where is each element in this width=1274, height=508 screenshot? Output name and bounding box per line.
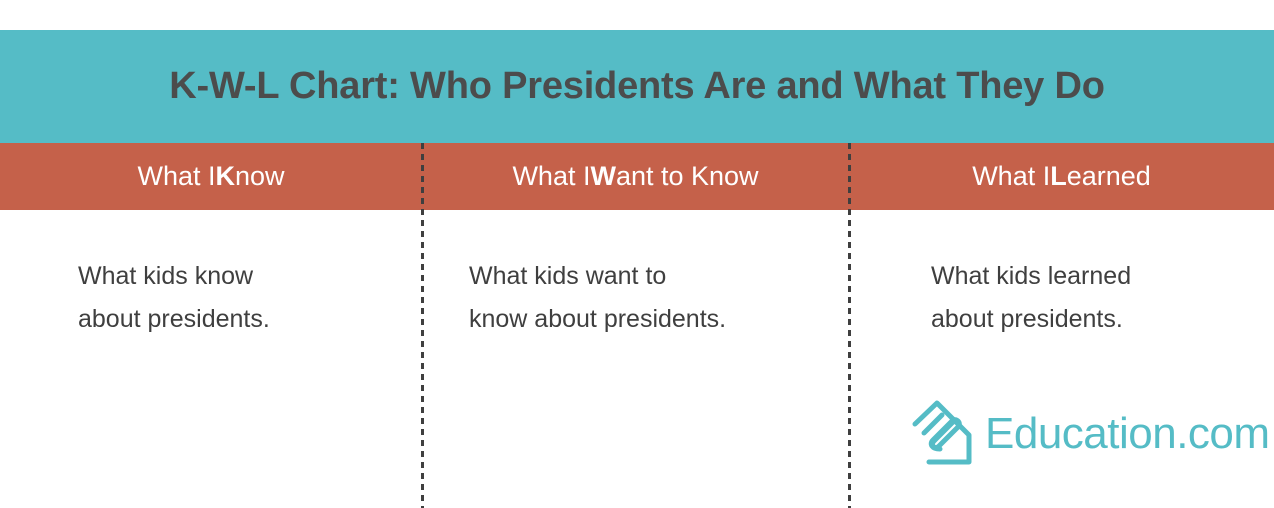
column-header-want-initial: W <box>590 161 615 192</box>
column-body-know-line-1: What kids know <box>78 255 401 298</box>
column-body-learned-line-1: What kids learned <box>931 255 1254 298</box>
column-header-learned-lead: What I <box>972 161 1050 192</box>
column-header-learned-rest: earned <box>1067 161 1151 192</box>
education-wordmark: Education.com <box>985 412 1270 456</box>
column-header-learned: What I Learned <box>849 143 1274 210</box>
kwl-chart-worksheet: K-W-L Chart: Who Presidents Are and What… <box>0 0 1274 508</box>
column-header-know-lead: What I <box>137 161 215 192</box>
column-header-want-lead: What I <box>512 161 590 192</box>
title-band: K-W-L Chart: Who Presidents Are and What… <box>0 30 1274 143</box>
education-pencil-notebook-icon <box>907 398 979 470</box>
column-header-want-to-know: What I Want to Know <box>422 143 849 210</box>
page-title: K-W-L Chart: Who Presidents Are and What… <box>169 65 1104 108</box>
column-body-know: What kids know about presidents. <box>0 210 421 508</box>
column-body-want-line-2: know about presidents. <box>469 298 828 341</box>
column-header-know-rest: now <box>235 161 285 192</box>
column-body-want-line-1: What kids want to <box>469 255 828 298</box>
column-header-band: What I Know What I Want to Know What I L… <box>0 143 1274 210</box>
column-header-know: What I Know <box>0 143 422 210</box>
column-body-learned-line-2: about presidents. <box>931 298 1254 341</box>
column-header-want-rest: ant to Know <box>616 161 759 192</box>
column-header-know-initial: K <box>216 161 236 192</box>
column-body-know-line-2: about presidents. <box>78 298 401 341</box>
column-header-learned-initial: L <box>1050 161 1067 192</box>
column-body-want-to-know: What kids want to know about presidents. <box>424 210 848 508</box>
education-logo: Education.com <box>907 398 1270 470</box>
